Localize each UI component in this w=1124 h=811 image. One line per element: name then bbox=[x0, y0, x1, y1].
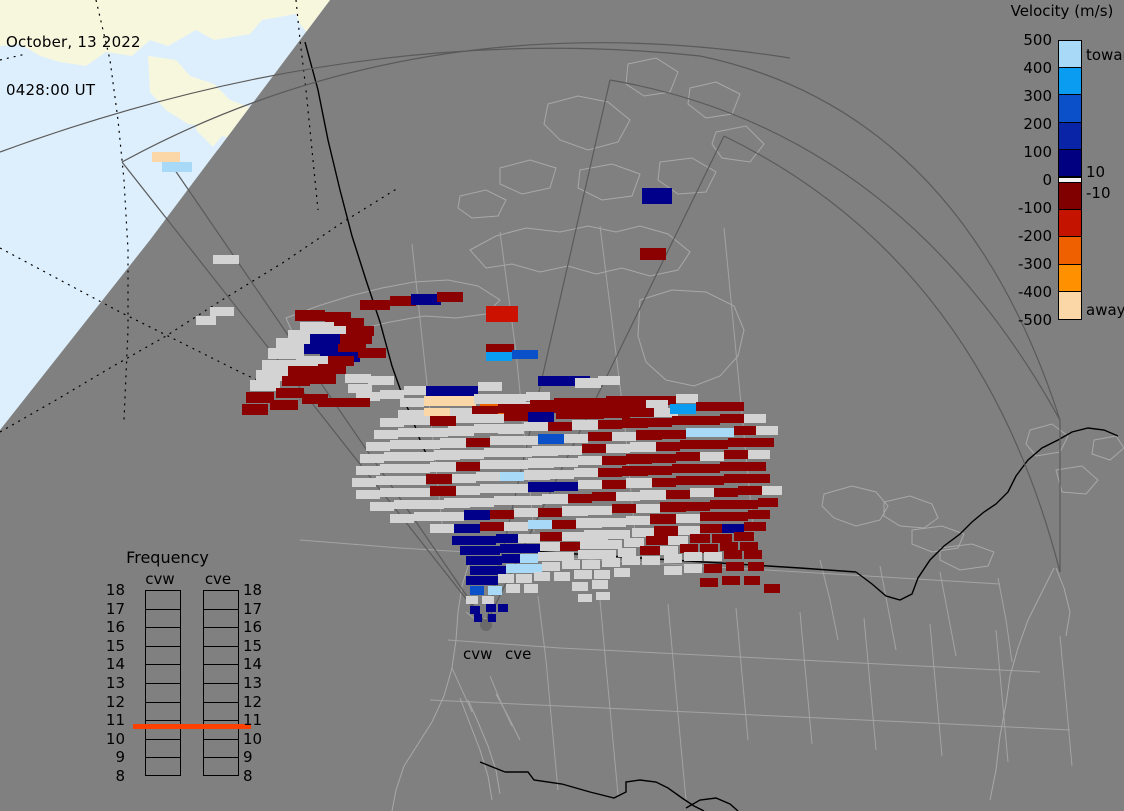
velocity-band bbox=[1059, 183, 1081, 210]
velocity-tick: -500 bbox=[992, 311, 1052, 329]
velocity-cell bbox=[606, 444, 630, 453]
velocity-cell bbox=[508, 448, 532, 457]
velocity-cell bbox=[196, 316, 216, 325]
site-label-cvw: cvw bbox=[463, 645, 492, 663]
velocity-cell bbox=[454, 524, 480, 533]
velocity-cell bbox=[588, 432, 612, 441]
velocity-cell bbox=[572, 582, 588, 591]
velocity-cell bbox=[498, 404, 522, 413]
velocity-cell bbox=[538, 376, 564, 386]
velocity-cell bbox=[720, 462, 744, 471]
velocity-cell bbox=[152, 152, 180, 162]
velocity-cell bbox=[456, 486, 480, 495]
velocity-cell bbox=[411, 294, 441, 305]
velocity-cell bbox=[630, 442, 656, 452]
velocity-cell bbox=[416, 440, 440, 449]
velocity-cell bbox=[680, 440, 704, 449]
velocity-cell bbox=[686, 502, 710, 511]
velocity-cell bbox=[756, 426, 778, 435]
timestamp-time: 0428:00 UT bbox=[6, 82, 141, 98]
velocity-cell bbox=[582, 444, 606, 453]
velocity-cell bbox=[460, 546, 480, 555]
velocity-cell bbox=[594, 570, 610, 579]
velocity-tick: -300 bbox=[992, 255, 1052, 273]
frequency-marker-cve bbox=[191, 724, 251, 729]
velocity-tick: 400 bbox=[992, 59, 1052, 77]
velocity-cell bbox=[384, 452, 410, 461]
velocity-cell bbox=[642, 188, 672, 204]
velocity-cell bbox=[402, 476, 426, 485]
velocity-cell bbox=[700, 476, 724, 485]
velocity-cell bbox=[640, 248, 666, 260]
velocity-tick: 100 bbox=[992, 143, 1052, 161]
velocity-cell bbox=[370, 502, 394, 511]
velocity-cell bbox=[582, 560, 600, 569]
velocity-cell bbox=[542, 562, 560, 571]
velocity-cell bbox=[700, 544, 718, 553]
frequency-tick: 9 bbox=[243, 748, 283, 766]
velocity-cell bbox=[574, 468, 598, 477]
velocity-cell bbox=[470, 586, 484, 595]
velocity-cell bbox=[668, 536, 688, 545]
velocity-cell bbox=[568, 494, 592, 503]
velocity-cell bbox=[398, 428, 424, 437]
velocity-cell bbox=[484, 448, 508, 457]
velocity-cell bbox=[626, 516, 650, 525]
velocity-cell bbox=[456, 414, 480, 423]
velocity-cell bbox=[526, 392, 550, 401]
frequency-column-header: cve bbox=[195, 570, 241, 588]
velocity-cell bbox=[562, 532, 584, 541]
velocity-cell bbox=[572, 420, 598, 430]
velocity-cell bbox=[162, 162, 192, 172]
velocity-cell bbox=[486, 306, 518, 322]
velocity-band bbox=[1059, 237, 1081, 264]
velocity-cell bbox=[270, 400, 298, 410]
velocity-cell bbox=[700, 512, 724, 521]
velocity-cell bbox=[584, 530, 608, 540]
velocity-cell bbox=[406, 488, 430, 497]
velocity-cell bbox=[602, 558, 620, 567]
frequency-row bbox=[146, 628, 180, 647]
velocity-cell bbox=[676, 514, 700, 523]
frequency-tick: 12 bbox=[243, 693, 283, 711]
velocity-cell bbox=[548, 422, 572, 431]
velocity-cell bbox=[724, 550, 742, 559]
velocity-cell bbox=[612, 504, 636, 513]
velocity-cell bbox=[504, 460, 528, 469]
velocity-cell bbox=[464, 510, 490, 520]
velocity-cell bbox=[744, 522, 766, 531]
velocity-cell bbox=[744, 414, 766, 423]
velocity-cell bbox=[376, 476, 402, 485]
velocity-cell bbox=[474, 614, 482, 622]
velocity-cell bbox=[618, 548, 636, 557]
velocity-cell bbox=[622, 418, 648, 428]
velocity-cell bbox=[528, 458, 554, 468]
velocity-cell bbox=[748, 510, 770, 519]
velocity-cell bbox=[528, 482, 554, 492]
velocity-cell bbox=[552, 520, 576, 529]
velocity-cell bbox=[482, 596, 494, 604]
velocity-cell bbox=[410, 452, 434, 461]
velocity-cell bbox=[444, 498, 470, 508]
velocity-cell bbox=[640, 546, 660, 555]
velocity-cell bbox=[714, 488, 738, 497]
velocity-cell bbox=[654, 526, 678, 536]
velocity-cell bbox=[540, 542, 560, 551]
velocity-plus10-label: 10 bbox=[1086, 163, 1105, 181]
frequency-tick: 15 bbox=[243, 637, 283, 655]
velocity-minus10-label: -10 bbox=[1086, 184, 1111, 202]
frequency-row bbox=[204, 684, 238, 703]
velocity-cell bbox=[352, 478, 376, 487]
frequency-tick: 13 bbox=[243, 674, 283, 692]
velocity-cell bbox=[344, 398, 370, 407]
velocity-tick: -400 bbox=[992, 283, 1052, 301]
velocity-cell bbox=[576, 518, 602, 528]
velocity-cell bbox=[452, 474, 476, 483]
velocity-cell bbox=[616, 492, 640, 501]
velocity-cell bbox=[704, 552, 722, 561]
velocity-cell bbox=[612, 432, 636, 441]
velocity-cell bbox=[380, 464, 406, 473]
velocity-cell bbox=[602, 480, 626, 489]
velocity-cell bbox=[562, 506, 588, 516]
timestamp: October, 13 2022 0428:00 UT bbox=[6, 2, 141, 130]
velocity-cell bbox=[524, 584, 538, 593]
velocity-cell bbox=[360, 454, 384, 463]
velocity-cell bbox=[696, 402, 720, 411]
velocity-cell bbox=[726, 562, 744, 571]
velocity-cell bbox=[348, 384, 372, 393]
velocity-cell bbox=[516, 574, 532, 583]
velocity-cell bbox=[430, 416, 456, 426]
velocity-cell bbox=[380, 418, 404, 427]
velocity-cell bbox=[564, 434, 588, 443]
velocity-cell bbox=[486, 352, 512, 361]
velocity-cell bbox=[648, 418, 672, 427]
velocity-cell bbox=[456, 462, 480, 471]
velocity-cell bbox=[592, 492, 616, 501]
velocity-cell bbox=[440, 512, 464, 521]
velocity-cell bbox=[632, 528, 654, 537]
velocity-cell bbox=[690, 488, 714, 497]
velocity-cell bbox=[374, 430, 398, 439]
velocity-cell bbox=[676, 476, 700, 485]
velocity-cell bbox=[662, 430, 686, 439]
velocity-tick: 0 bbox=[992, 171, 1052, 189]
velocity-band bbox=[1059, 41, 1081, 68]
velocity-band bbox=[1059, 265, 1081, 292]
velocity-cell bbox=[622, 400, 646, 409]
frequency-row bbox=[146, 665, 180, 684]
velocity-away-label: away bbox=[1086, 301, 1124, 319]
velocity-cell bbox=[318, 398, 344, 407]
velocity-cell bbox=[744, 576, 760, 585]
velocity-cell bbox=[340, 334, 372, 344]
velocity-cell bbox=[466, 438, 490, 447]
frequency-legend: Frequency cvw18171615141312111098cve1817… bbox=[85, 545, 250, 795]
frequency-row bbox=[146, 758, 180, 777]
velocity-band bbox=[1059, 68, 1081, 95]
velocity-cell bbox=[542, 494, 568, 504]
velocity-cell bbox=[724, 512, 748, 521]
frequency-row bbox=[204, 610, 238, 629]
velocity-cell bbox=[614, 568, 630, 577]
velocity-cell bbox=[504, 412, 528, 421]
velocity-cell bbox=[700, 524, 722, 533]
frequency-tick: 17 bbox=[85, 600, 125, 618]
velocity-cell bbox=[538, 508, 562, 517]
velocity-cell bbox=[506, 564, 524, 573]
velocity-cell bbox=[604, 408, 630, 418]
frequency-marker-cvw bbox=[133, 724, 193, 729]
velocity-cell bbox=[470, 566, 488, 575]
velocity-cell bbox=[748, 562, 764, 571]
velocity-cell bbox=[424, 396, 450, 406]
velocity-cell bbox=[520, 554, 538, 563]
velocity-cell bbox=[532, 446, 558, 456]
velocity-cell bbox=[460, 450, 484, 459]
velocity-cell bbox=[242, 404, 268, 415]
velocity-cell bbox=[734, 532, 754, 541]
velocity-cell bbox=[496, 534, 518, 543]
velocity-cell bbox=[648, 466, 672, 475]
velocity-cell bbox=[528, 520, 552, 529]
velocity-cell bbox=[758, 498, 778, 507]
velocity-cell bbox=[748, 474, 770, 483]
frequency-row bbox=[204, 740, 238, 759]
frequency-row bbox=[146, 610, 180, 629]
velocity-cell bbox=[470, 606, 480, 614]
velocity-cell bbox=[664, 554, 682, 563]
velocity-cell bbox=[700, 578, 718, 587]
velocity-cell bbox=[434, 450, 460, 460]
velocity-cell bbox=[622, 466, 648, 476]
velocity-cell bbox=[728, 438, 752, 447]
frequency-tick: 10 bbox=[85, 730, 125, 748]
velocity-cell bbox=[738, 486, 762, 495]
site-label-cve: cve bbox=[505, 645, 531, 663]
frequency-row bbox=[146, 703, 180, 722]
velocity-cell bbox=[356, 490, 380, 499]
velocity-cell bbox=[466, 596, 478, 604]
frequency-tick: 10 bbox=[243, 730, 283, 748]
velocity-cell bbox=[646, 400, 668, 409]
velocity-tick: -200 bbox=[992, 227, 1052, 245]
velocity-cell bbox=[690, 534, 710, 543]
velocity-cell bbox=[488, 614, 496, 622]
velocity-cell bbox=[500, 472, 524, 481]
velocity-cell bbox=[602, 518, 626, 527]
velocity-cell bbox=[666, 490, 690, 499]
velocity-cell bbox=[502, 554, 520, 563]
frequency-column-cve bbox=[203, 590, 239, 776]
radar-velocity-map: October, 13 2022 0428:00 UT Velocity (m/… bbox=[0, 0, 1124, 811]
velocity-cell bbox=[504, 522, 528, 531]
velocity-cell bbox=[276, 388, 304, 398]
velocity-cell bbox=[358, 348, 386, 358]
velocity-cell bbox=[406, 464, 430, 473]
velocity-cell bbox=[574, 570, 592, 579]
velocity-cell bbox=[722, 524, 744, 533]
velocity-cell bbox=[556, 552, 574, 561]
velocity-cell bbox=[636, 504, 660, 513]
frequency-tick: 8 bbox=[243, 767, 283, 785]
velocity-cell bbox=[430, 486, 456, 496]
velocity-cell bbox=[748, 450, 770, 459]
velocity-cell bbox=[704, 440, 728, 449]
velocity-cell bbox=[490, 436, 514, 445]
velocity-cell bbox=[672, 416, 696, 425]
velocity-cell bbox=[360, 300, 390, 310]
velocity-cell bbox=[506, 584, 520, 593]
velocity-cell bbox=[466, 576, 482, 585]
velocity-cell bbox=[450, 396, 476, 406]
velocity-cell bbox=[598, 550, 616, 559]
velocity-band bbox=[1059, 210, 1081, 237]
velocity-cell bbox=[560, 542, 580, 551]
velocity-cell bbox=[578, 480, 602, 489]
velocity-cell bbox=[345, 374, 371, 383]
velocity-cell bbox=[480, 414, 504, 423]
frequency-row bbox=[146, 740, 180, 759]
velocity-cell bbox=[504, 484, 528, 493]
velocity-cell bbox=[764, 584, 780, 593]
velocity-cell bbox=[744, 462, 766, 471]
frequency-column-header: cvw bbox=[137, 570, 183, 588]
velocity-cell bbox=[484, 556, 502, 565]
velocity-cell bbox=[556, 410, 580, 419]
frequency-row bbox=[204, 647, 238, 666]
velocity-cell bbox=[646, 536, 668, 545]
velocity-cell bbox=[724, 450, 748, 459]
velocity-cell bbox=[676, 394, 698, 403]
velocity-cell bbox=[474, 394, 500, 404]
velocity-cell bbox=[356, 466, 380, 475]
velocity-legend: Velocity (m/s) 5004003002001000-100-200-… bbox=[990, 0, 1124, 340]
velocity-cell bbox=[452, 536, 474, 545]
velocity-cell bbox=[734, 500, 758, 509]
frequency-legend-title: Frequency bbox=[85, 548, 250, 567]
velocity-cell bbox=[512, 350, 538, 359]
velocity-cell bbox=[310, 374, 336, 384]
velocity-cell bbox=[686, 428, 710, 437]
frequency-tick: 14 bbox=[85, 655, 125, 673]
velocity-cell bbox=[538, 434, 564, 444]
frequency-tick: 9 bbox=[85, 748, 125, 766]
velocity-cell bbox=[592, 580, 608, 589]
velocity-cell bbox=[672, 464, 696, 473]
frequency-tick: 8 bbox=[85, 767, 125, 785]
velocity-cell bbox=[710, 500, 734, 509]
velocity-cell bbox=[420, 500, 444, 509]
velocity-cell bbox=[295, 310, 325, 321]
velocity-cell bbox=[282, 376, 310, 386]
frequency-row bbox=[204, 703, 238, 722]
velocity-cell bbox=[622, 556, 640, 565]
velocity-cell bbox=[478, 382, 502, 391]
velocity-cell bbox=[400, 398, 424, 407]
velocity-cell bbox=[366, 442, 390, 451]
velocity-cell bbox=[554, 458, 578, 467]
velocity-cell bbox=[558, 446, 582, 455]
velocity-cell bbox=[380, 488, 406, 497]
velocity-tick: 500 bbox=[992, 31, 1052, 49]
velocity-cell bbox=[426, 474, 452, 484]
velocity-band bbox=[1059, 150, 1081, 177]
velocity-cell bbox=[476, 472, 500, 481]
velocity-cell bbox=[660, 546, 678, 555]
velocity-cell bbox=[486, 604, 496, 612]
velocity-cell bbox=[448, 426, 474, 436]
timestamp-date: October, 13 2022 bbox=[6, 34, 141, 50]
velocity-cell bbox=[696, 464, 720, 473]
velocity-cell bbox=[534, 572, 550, 581]
velocity-cell bbox=[598, 376, 620, 385]
velocity-cell bbox=[624, 538, 644, 547]
velocity-cell bbox=[498, 574, 514, 583]
frequency-tick: 17 bbox=[243, 600, 283, 618]
velocity-cell bbox=[470, 498, 494, 507]
velocity-cell bbox=[650, 514, 676, 524]
velocity-cell bbox=[550, 470, 574, 479]
velocity-cell bbox=[440, 438, 466, 448]
frequency-tick: 16 bbox=[85, 618, 125, 636]
velocity-cell bbox=[514, 508, 538, 517]
velocity-cell bbox=[494, 496, 518, 505]
velocity-cell bbox=[210, 307, 234, 316]
velocity-cell bbox=[524, 564, 542, 573]
velocity-cell bbox=[724, 474, 748, 483]
velocity-cell bbox=[498, 424, 524, 434]
velocity-cell bbox=[524, 422, 548, 431]
velocity-cell bbox=[466, 556, 484, 565]
frequency-row bbox=[146, 684, 180, 703]
velocity-cell bbox=[380, 390, 404, 399]
velocity-cell bbox=[480, 546, 500, 555]
velocity-cell bbox=[684, 552, 702, 561]
velocity-cell bbox=[652, 478, 676, 487]
velocity-cell bbox=[580, 410, 604, 419]
frequency-tick: 11 bbox=[243, 711, 283, 729]
velocity-band bbox=[1059, 95, 1081, 122]
velocity-cell bbox=[580, 540, 602, 549]
velocity-cell bbox=[480, 460, 504, 469]
velocity-cell bbox=[424, 428, 448, 437]
velocity-legend-title: Velocity (m/s) bbox=[1000, 2, 1124, 20]
velocity-cell bbox=[608, 530, 630, 539]
velocity-toward-label: toward bbox=[1086, 46, 1124, 64]
velocity-cell bbox=[390, 440, 416, 449]
velocity-cell bbox=[744, 550, 762, 559]
velocity-cell bbox=[740, 542, 758, 551]
velocity-cell bbox=[684, 564, 702, 573]
velocity-cell bbox=[250, 380, 280, 391]
velocity-cell bbox=[524, 470, 550, 480]
velocity-cell bbox=[596, 592, 610, 600]
velocity-cell bbox=[518, 534, 540, 543]
frequency-column-cvw bbox=[145, 590, 181, 776]
velocity-band bbox=[1059, 123, 1081, 150]
frequency-row bbox=[204, 665, 238, 684]
velocity-cell bbox=[562, 560, 580, 569]
velocity-cell bbox=[554, 482, 578, 491]
velocity-cell bbox=[575, 378, 601, 388]
velocity-cell bbox=[480, 484, 504, 493]
velocity-cell bbox=[213, 255, 239, 264]
